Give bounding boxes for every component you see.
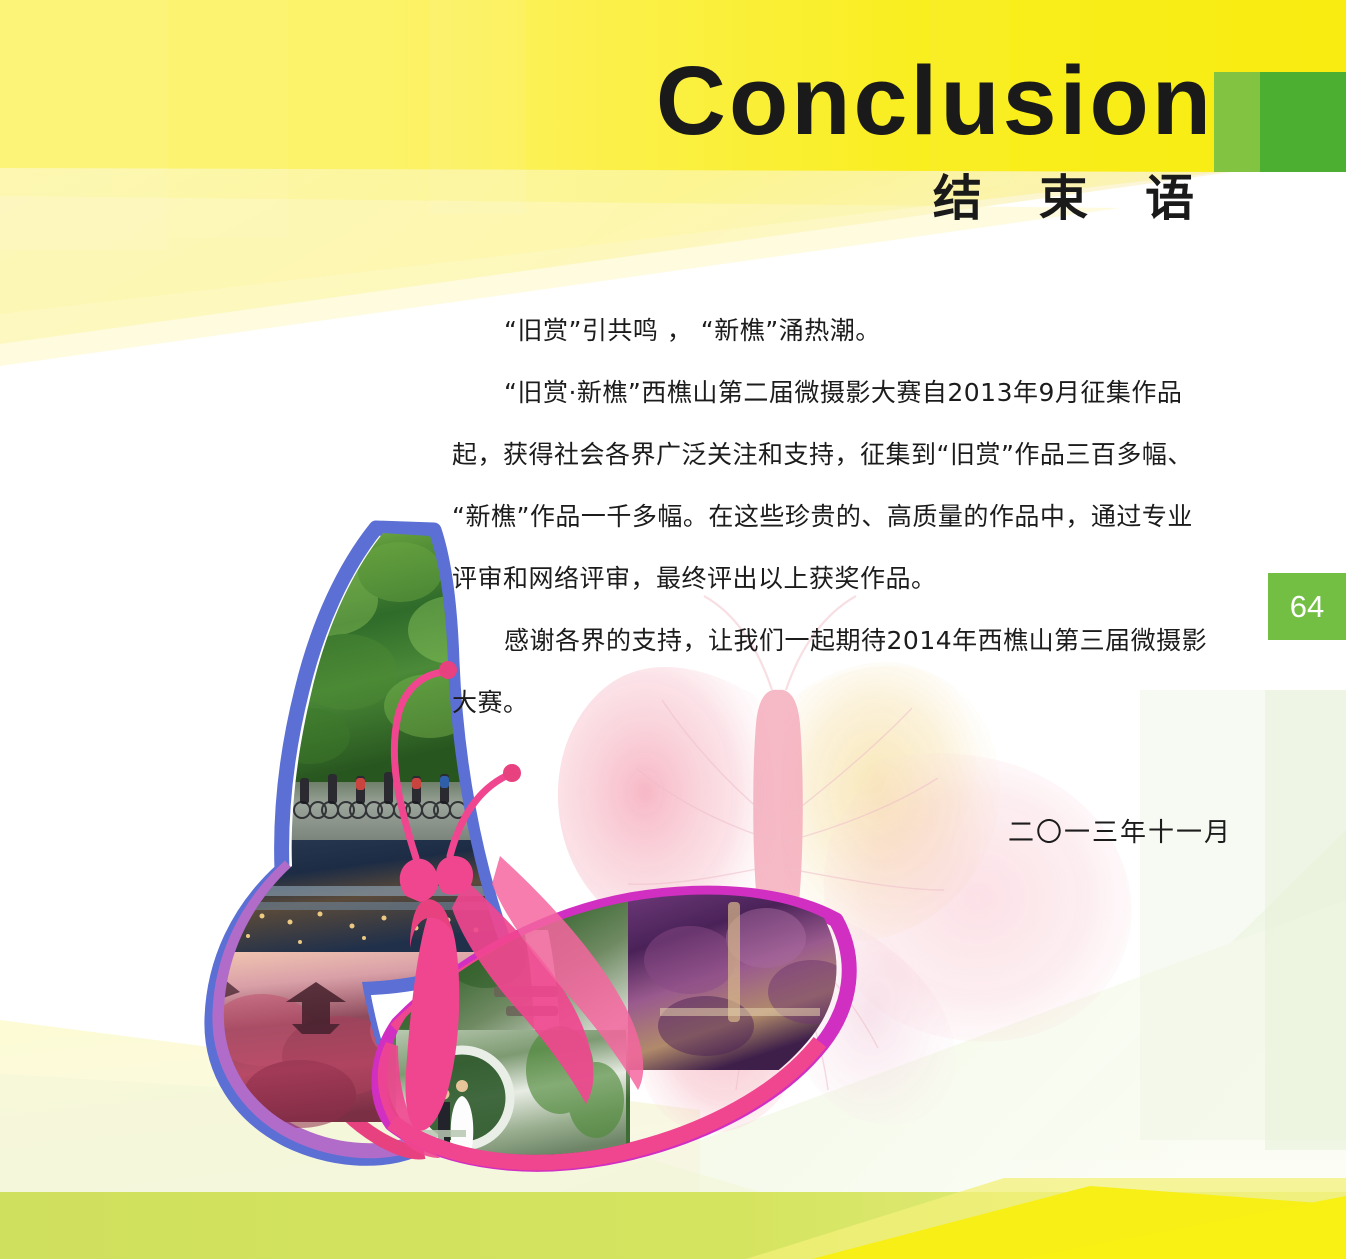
body-line: 感谢各界的支持，让我们一起期待2014年西樵山第三届微摄影 [452,610,1224,672]
page-title-chinese: 结 束 语 [0,174,1214,223]
brochure-page: Conclusion 结 束 语 64 “旧赏”引共鸣 ， “新樵”涌热潮。 “… [0,0,1346,1259]
body-line: 起，获得社会各界广泛关注和支持，征集到“旧赏”作品三百多幅、 [452,424,1224,486]
body-line: 评审和网络评审，最终评出以上获奖作品。 [452,548,1224,610]
page-number-badge: 64 [1268,573,1346,640]
body-line: “新樵”作品一千多幅。在这些珍贵的、高质量的作品中，通过专业 [452,486,1224,548]
page-title-english: Conclusion [0,52,1214,149]
signature-date: 二〇一三年十一月 [0,812,1232,849]
body-line: 大赛。 [452,672,1224,734]
body-line: “旧赏”引共鸣 ， “新樵”涌热潮。 [452,300,1224,362]
body-line: “旧赏·新樵”西樵山第二届微摄影大赛自2013年9月征集作品 [452,362,1224,424]
header-accent-dark-green [1260,72,1346,172]
conclusion-body-text: “旧赏”引共鸣 ， “新樵”涌热潮。 “旧赏·新樵”西樵山第二届微摄影大赛自20… [452,300,1224,734]
header-accent-light-green [1214,72,1260,172]
